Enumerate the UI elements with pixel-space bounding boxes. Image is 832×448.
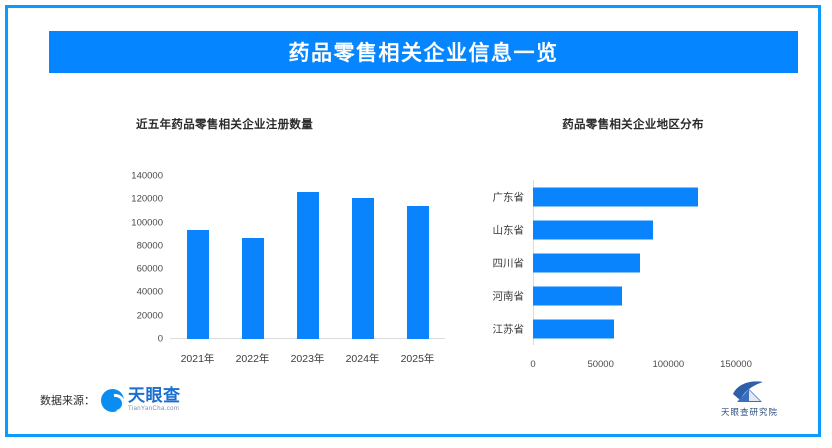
bar-group: 2025年 xyxy=(390,176,445,339)
page-title-banner: 药品零售相关企业信息一览 xyxy=(49,31,798,73)
y-axis-tick-label: 100000 xyxy=(131,217,163,228)
infographic-card: 药品零售相关企业信息一览 近五年药品零售相关企业注册数量 14000012000… xyxy=(5,5,821,437)
bar xyxy=(533,286,622,305)
y-axis-tick-label: 20000 xyxy=(137,310,163,321)
bar xyxy=(187,230,209,339)
y-axis-tick-label: 120000 xyxy=(131,194,163,205)
tianyancha-name-cn: 天眼查 xyxy=(128,387,181,404)
category-label: 山东省 xyxy=(493,222,525,237)
y-axis-tick-label: 60000 xyxy=(137,264,163,275)
bar-group: 2024年 xyxy=(335,176,390,339)
category-label: 四川省 xyxy=(493,255,525,270)
x-axis-tick-label: 2021年 xyxy=(181,351,215,366)
y-axis-tick-label: 0 xyxy=(158,334,163,345)
institute-arch-icon xyxy=(732,380,766,404)
tianyancha-eye-icon xyxy=(101,389,124,412)
institute-name: 天眼查研究院 xyxy=(721,406,778,418)
bar-group: 四川省 xyxy=(533,246,736,279)
tianyancha-logo: 天眼查 TianYanCha.com xyxy=(101,387,181,412)
bar-group: 江苏省 xyxy=(533,312,736,345)
bar xyxy=(297,192,319,339)
category-label: 广东省 xyxy=(493,189,525,204)
bar xyxy=(533,253,640,272)
institute-brand: 天眼查研究院 xyxy=(721,380,778,418)
vertical-bar-plot-area: 140000120000100000800006000040000200000 … xyxy=(170,176,445,339)
x-axis-tick-label: 2024年 xyxy=(346,351,380,366)
bar xyxy=(533,187,698,206)
x-axis-tick-label: 2022年 xyxy=(236,351,270,366)
bar xyxy=(407,206,429,339)
bar xyxy=(242,238,264,339)
y-axis-tick-label: 140000 xyxy=(131,171,163,182)
chart-title-registrations: 近五年药品零售相关企业注册数量 xyxy=(136,116,313,132)
bar-group: 2023年 xyxy=(280,176,335,339)
x-axis-tick-label: 2025年 xyxy=(401,351,435,366)
data-source: 数据来源： 天眼查 TianYanCha.com xyxy=(40,387,181,412)
bar xyxy=(533,319,614,338)
chart-title-region-distribution: 药品零售相关企业地区分布 xyxy=(463,116,803,132)
y-axis-tick-label: 40000 xyxy=(137,287,163,298)
bar-group: 山东省 xyxy=(533,213,736,246)
chart-registrations: 近五年药品零售相关企业注册数量 140000120000100000800006… xyxy=(68,108,458,378)
x-axis-tick-label: 150000 xyxy=(720,359,752,370)
bar-group: 2022年 xyxy=(225,176,280,339)
x-axis-tick-label: 2023年 xyxy=(291,351,325,366)
bar xyxy=(533,220,653,239)
x-axis-tick-label: 100000 xyxy=(652,359,684,370)
page-title: 药品零售相关企业信息一览 xyxy=(289,37,559,67)
chart-region-distribution: 药品零售相关企业地区分布 广东省山东省四川省河南省江苏省 05000010000… xyxy=(463,108,803,378)
data-source-label: 数据来源： xyxy=(40,392,95,408)
tianyancha-name-en: TianYanCha.com xyxy=(128,406,181,412)
x-axis-tick-label: 50000 xyxy=(587,359,613,370)
category-label: 江苏省 xyxy=(493,321,525,336)
bar xyxy=(352,198,374,339)
tianyancha-wordmark: 天眼查 TianYanCha.com xyxy=(128,387,181,412)
x-axis-tick-label: 0 xyxy=(530,359,535,370)
bar-group: 广东省 xyxy=(533,180,736,213)
bar-group: 2021年 xyxy=(170,176,225,339)
horizontal-bar-plot-area: 广东省山东省四川省河南省江苏省 050000100000150000 xyxy=(533,180,736,345)
y-axis-tick-label: 80000 xyxy=(137,240,163,251)
category-label: 河南省 xyxy=(493,288,525,303)
bar-group: 河南省 xyxy=(533,279,736,312)
